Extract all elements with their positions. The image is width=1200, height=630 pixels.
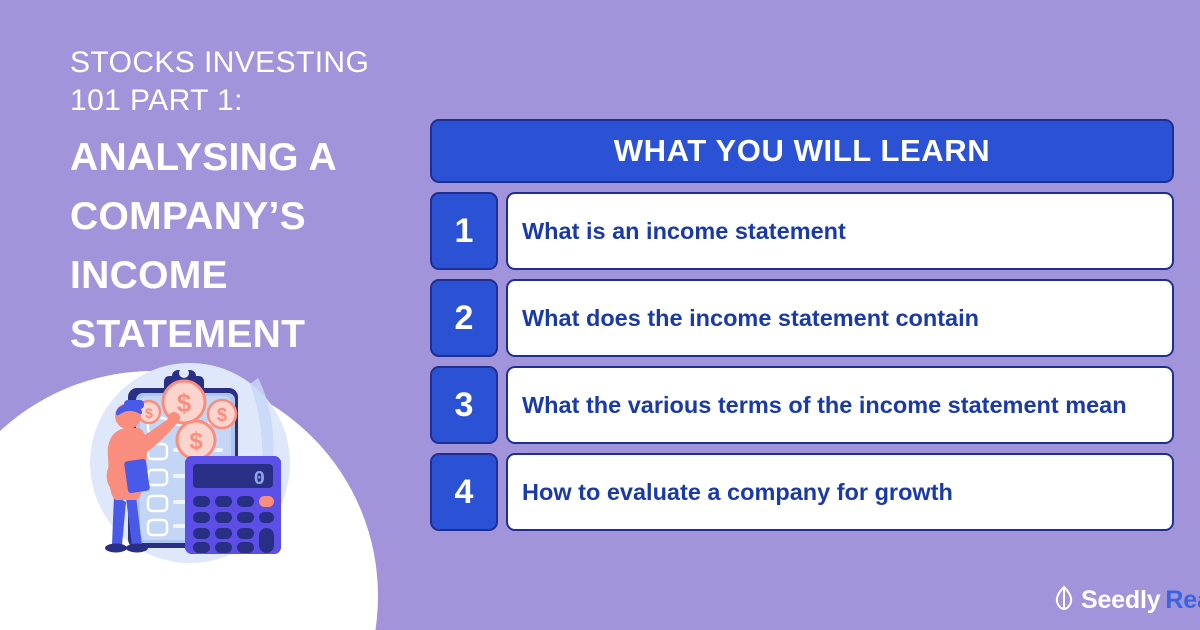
list-item-number: 4 — [430, 453, 498, 531]
list-item-label: What does the income statement contain — [522, 303, 979, 333]
list-item-label: How to evaluate a company for growth — [522, 477, 953, 507]
list-item[interactable]: 4 How to evaluate a company for growth — [430, 453, 1174, 531]
list-item-number: 1 — [430, 192, 498, 270]
calculator-accent-button — [259, 496, 274, 507]
panel-header-title: WHAT YOU WILL LEARN — [614, 133, 990, 169]
panel-header: WHAT YOU WILL LEARN — [430, 119, 1174, 183]
poster-canvas: STOCKS INVESTING 101 PART 1: ANALYSING A… — [0, 0, 1200, 630]
list-item-textbox: What is an income statement — [506, 192, 1174, 270]
list-item-label: What is an income statement — [522, 216, 846, 246]
list-item[interactable]: 3 What the various terms of the income s… — [430, 366, 1174, 444]
svg-text:$: $ — [217, 405, 227, 425]
list-item-number: 2 — [430, 279, 498, 357]
logo-suffix-text: Reads — [1165, 586, 1200, 615]
list-item-textbox: What the various terms of the income sta… — [506, 366, 1174, 444]
finance-illustration: $ $ $ $ — [72, 360, 302, 575]
svg-text:$: $ — [189, 428, 203, 455]
list-item-label: What the various terms of the income sta… — [522, 390, 1127, 420]
eyebrow-text: STOCKS INVESTING 101 PART 1: — [70, 44, 410, 120]
list-item-textbox: How to evaluate a company for growth — [506, 453, 1174, 531]
svg-text:$: $ — [177, 388, 192, 418]
calculator: 0 — [185, 456, 281, 554]
svg-text:$: $ — [145, 405, 153, 421]
list-item-textbox: What does the income statement contain — [506, 279, 1174, 357]
left-text-column: STOCKS INVESTING 101 PART 1: ANALYSING A… — [70, 44, 410, 364]
svg-text:0: 0 — [254, 468, 265, 490]
seedly-leaf-icon — [1052, 585, 1076, 616]
logo-brand-text: Seedly — [1081, 586, 1160, 615]
list-item[interactable]: 2 What does the income statement contain — [430, 279, 1174, 357]
page-title: ANALYSING A COMPANY’S INCOME STATEMENT — [70, 128, 410, 364]
list-item[interactable]: 1 What is an income statement — [430, 192, 1174, 270]
what-you-will-learn-panel: WHAT YOU WILL LEARN 1 What is an income … — [430, 119, 1174, 531]
list-item-number: 3 — [430, 366, 498, 444]
seedly-reads-logo[interactable]: Seedly Reads — [1052, 585, 1200, 616]
